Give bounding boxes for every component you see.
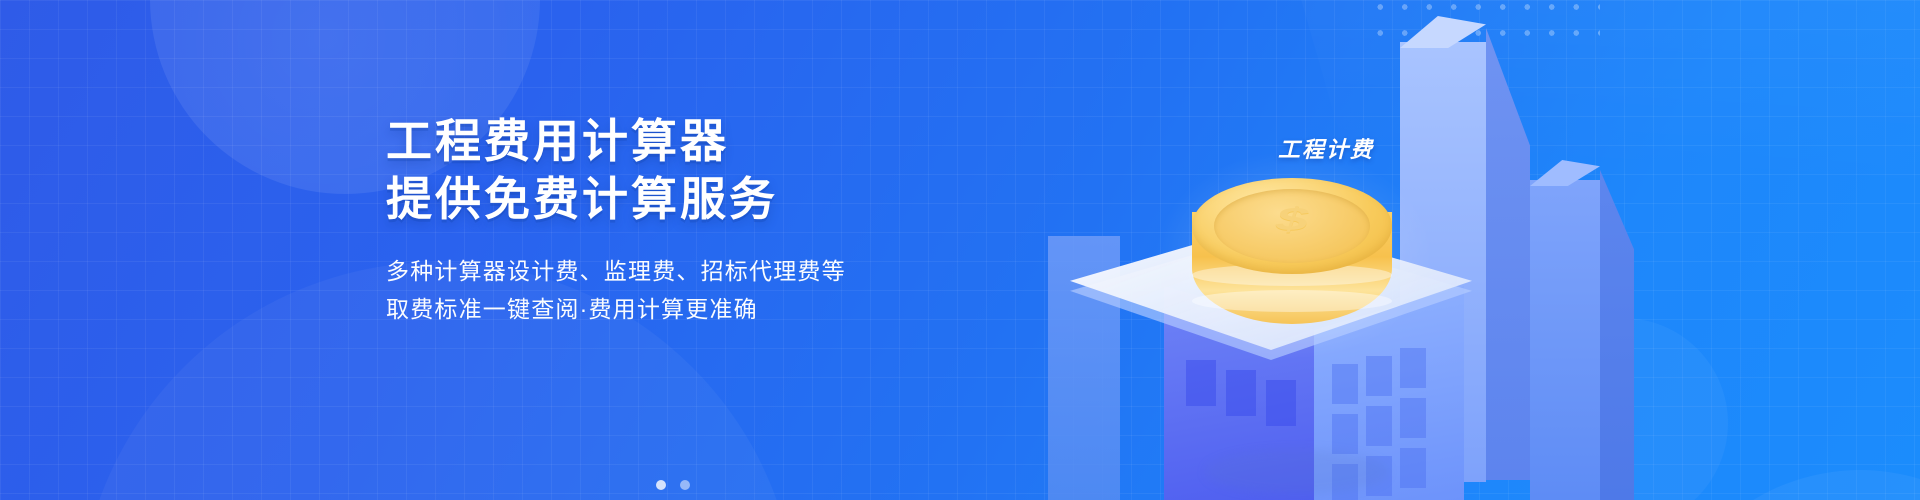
banner-headline-line1: 工程费用计算器 <box>386 112 846 170</box>
carousel-dot-2[interactable] <box>680 480 690 490</box>
carousel-indicator[interactable] <box>656 480 690 490</box>
carousel-dot-1[interactable] <box>656 480 666 490</box>
banner-copy: 工程费用计算器 提供免费计算服务 多种计算器设计费、监理费、招标代理费等 取费标… <box>386 112 846 328</box>
hero-banner: 工程费用计算器 提供免费计算服务 多种计算器设计费、监理费、招标代理费等 取费标… <box>0 0 1920 500</box>
hero-illustration: 工程计费 <box>1100 0 1660 500</box>
banner-subtitle-line2: 取费标准一键查阅·费用计算更准确 <box>386 290 846 328</box>
gold-coin-icon: $ <box>1192 178 1392 346</box>
banner-headline-line2: 提供免费计算服务 <box>386 170 846 228</box>
background-bar-medium <box>1530 180 1600 500</box>
dollar-sign-icon: $ <box>1192 201 1392 239</box>
banner-subtitle-line1: 多种计算器设计费、监理费、招标代理费等 <box>386 252 846 290</box>
